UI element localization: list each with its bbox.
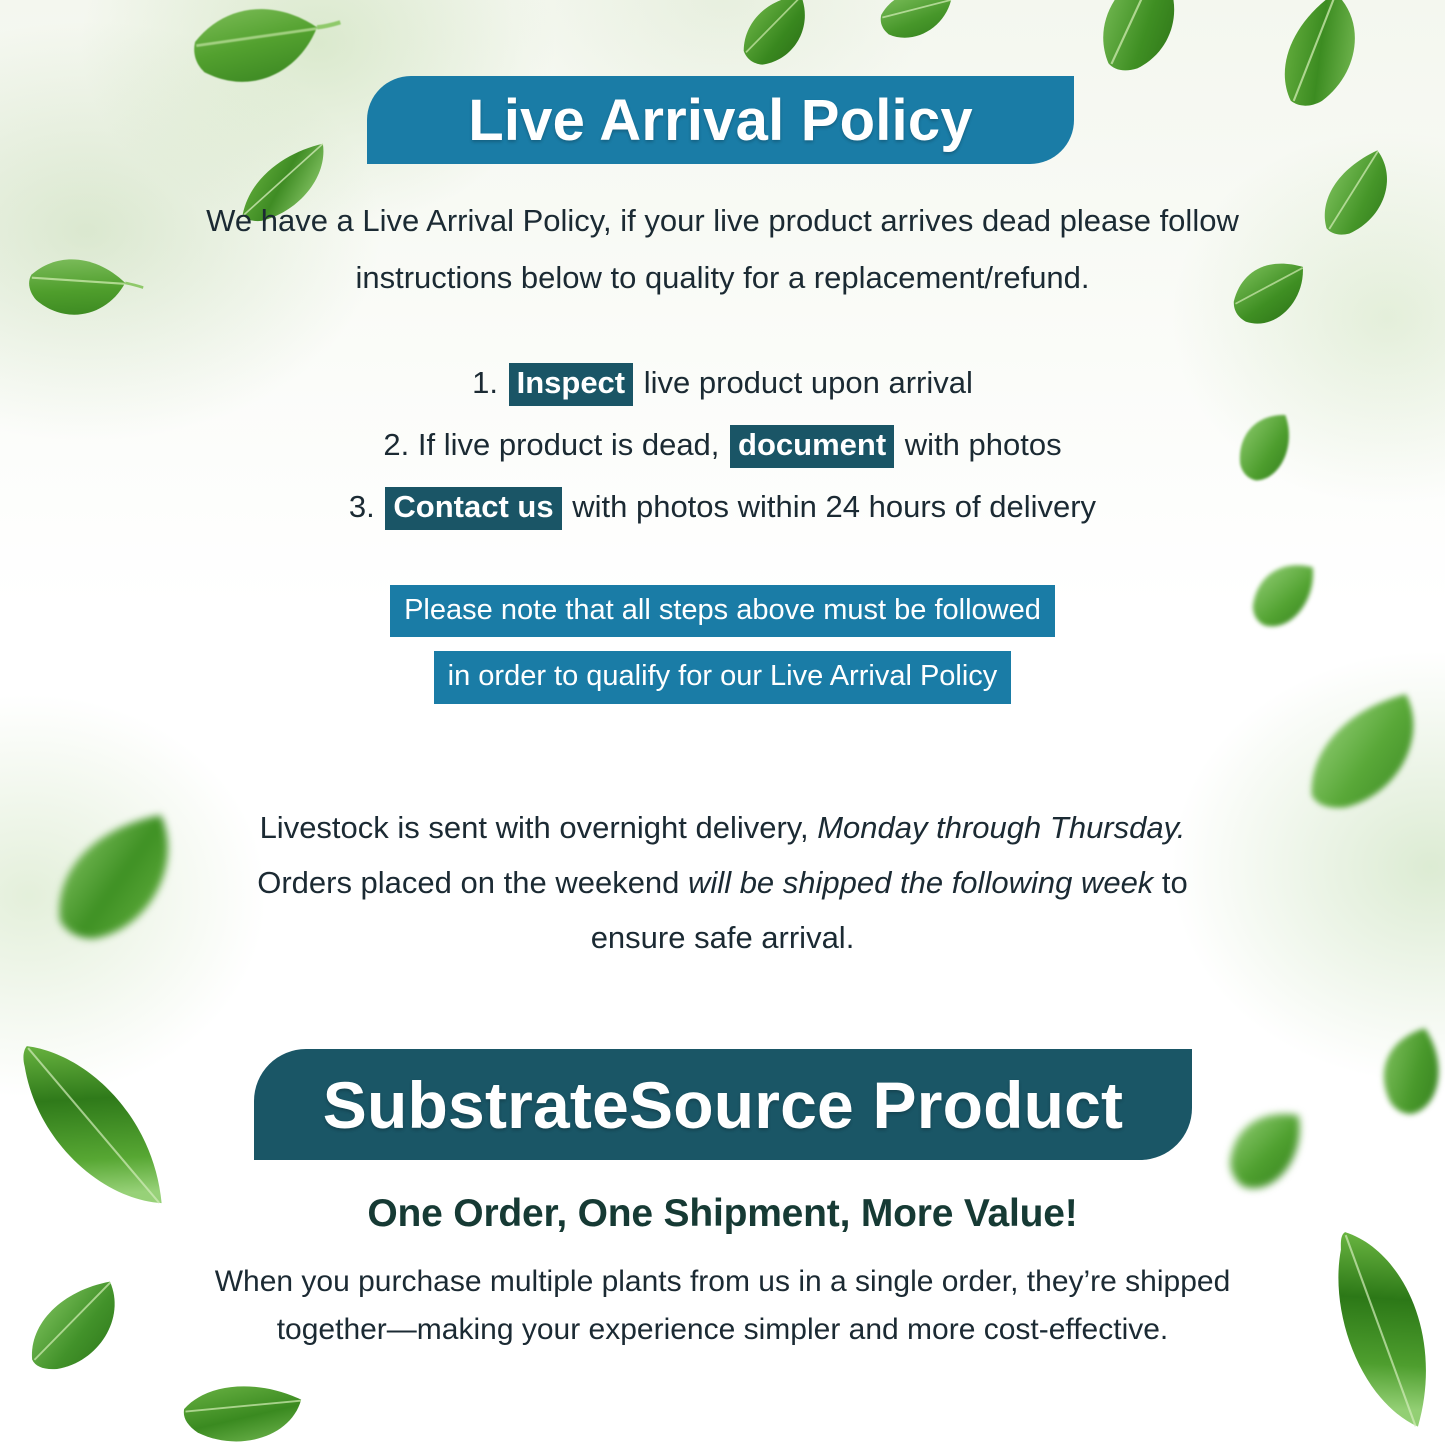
substratesource-product-title: SubstrateSource Product [323, 1067, 1123, 1143]
shipping-italic-days: Monday through Thursday. [817, 810, 1185, 845]
shipping-text-part1: Livestock is sent with overnight deliver… [260, 810, 818, 845]
step-number: 1. [472, 365, 498, 400]
step-text: with photos [905, 427, 1062, 462]
note-line-1: Please note that all steps above must be… [390, 585, 1055, 637]
step-number: 3. [349, 489, 375, 524]
document-highlight: document [730, 425, 894, 468]
step-text-before: If live product is dead, [418, 427, 720, 462]
list-item: 2. If live product is dead, document wit… [0, 414, 1445, 476]
live-arrival-policy-banner: Live Arrival Policy [367, 76, 1074, 164]
value-subheading: One Order, One Shipment, More Value! [0, 1192, 1445, 1236]
shipping-italic-weekend: will be shipped the following week [688, 865, 1153, 900]
substratesource-product-banner: SubstrateSource Product [254, 1049, 1192, 1160]
step-number: 2. [383, 427, 409, 462]
intro-paragraph: We have a Live Arrival Policy, if your l… [0, 192, 1445, 307]
policy-note-block: Please note that all steps above must be… [0, 585, 1445, 704]
contact-us-highlight[interactable]: Contact us [385, 487, 561, 530]
shipping-schedule-paragraph: Livestock is sent with overnight deliver… [0, 800, 1445, 966]
policy-infographic: Live Arrival Policy We have a Live Arriv… [0, 0, 1445, 1445]
list-item: 1. Inspect live product upon arrival [0, 352, 1445, 414]
policy-steps-list: 1. Inspect live product upon arrival 2. … [0, 352, 1445, 538]
step-text: live product upon arrival [644, 365, 973, 400]
inspect-highlight: Inspect [509, 363, 634, 406]
bundled-shipping-paragraph: When you purchase multiple plants from u… [0, 1258, 1445, 1354]
note-line-2: in order to qualify for our Live Arrival… [434, 651, 1012, 703]
list-item: 3. Contact us with photos within 24 hour… [0, 476, 1445, 538]
step-text: with photos within 24 hours of delivery [572, 489, 1096, 524]
shipping-text-part2: Orders placed on the weekend [257, 865, 688, 900]
live-arrival-policy-title: Live Arrival Policy [468, 87, 973, 154]
